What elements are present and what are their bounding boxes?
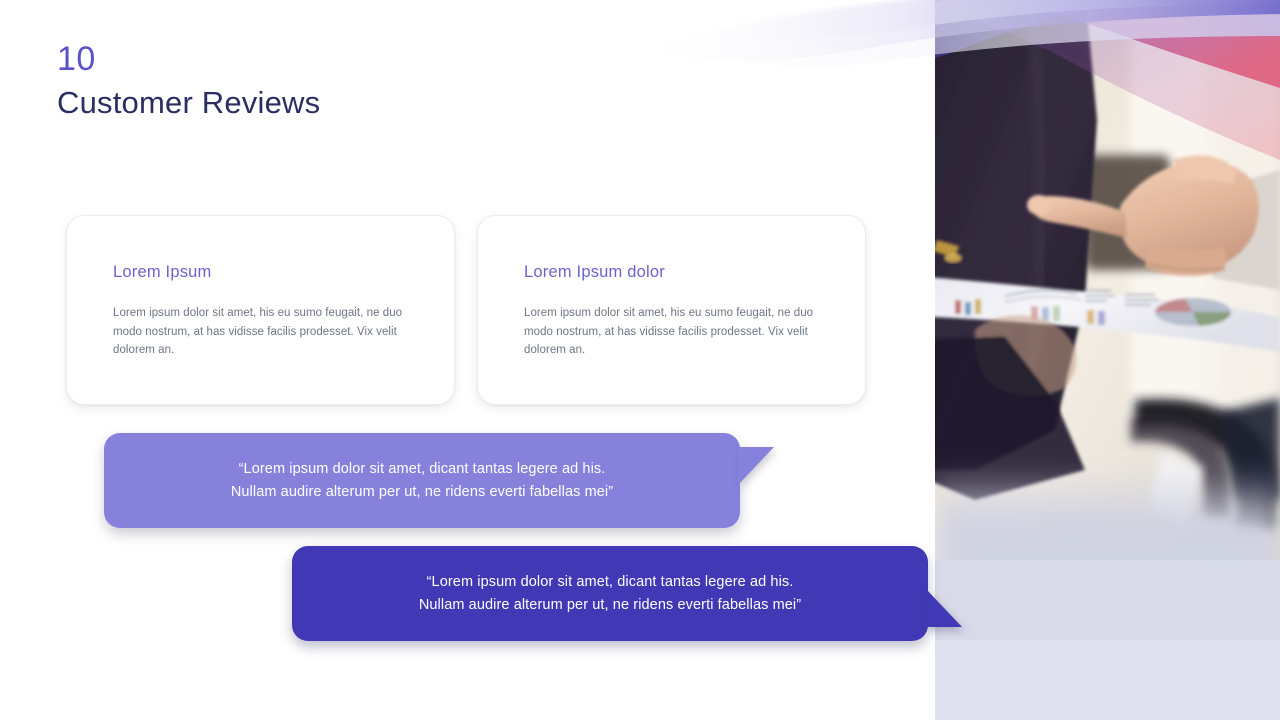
review-card-title: Lorem Ipsum	[113, 263, 410, 282]
speech-tail-icon	[926, 589, 962, 627]
slide-title: Customer Reviews	[57, 84, 320, 121]
review-card-body: Lorem ipsum dolor sit amet, his eu sumo …	[524, 304, 821, 360]
photo-panel	[935, 0, 1280, 720]
review-card[interactable]: Lorem Ipsum dolor Lorem ipsum dolor sit …	[477, 215, 866, 405]
review-card-title: Lorem Ipsum dolor	[524, 263, 821, 282]
slide-canvas: 10 Customer Reviews Lorem Ipsum Lorem ip…	[0, 0, 1280, 720]
slide-number: 10	[57, 42, 320, 78]
review-cards-container: Lorem Ipsum Lorem ipsum dolor sit amet, …	[66, 215, 866, 405]
quote-bubble-text: “Lorem ipsum dolor sit amet, dicant tant…	[419, 571, 801, 616]
review-card[interactable]: Lorem Ipsum Lorem ipsum dolor sit amet, …	[66, 215, 455, 405]
quote-bubble-text: “Lorem ipsum dolor sit amet, dicant tant…	[231, 458, 613, 503]
quote-bubble-dark[interactable]: “Lorem ipsum dolor sit amet, dicant tant…	[292, 546, 928, 641]
businessman-pointing-at-report-photo	[935, 0, 1280, 720]
page-title: 10 Customer Reviews	[57, 42, 320, 121]
quote-bubble-light[interactable]: “Lorem ipsum dolor sit amet, dicant tant…	[104, 433, 740, 528]
speech-tail-icon	[738, 447, 774, 485]
review-card-body: Lorem ipsum dolor sit amet, his eu sumo …	[113, 304, 410, 360]
